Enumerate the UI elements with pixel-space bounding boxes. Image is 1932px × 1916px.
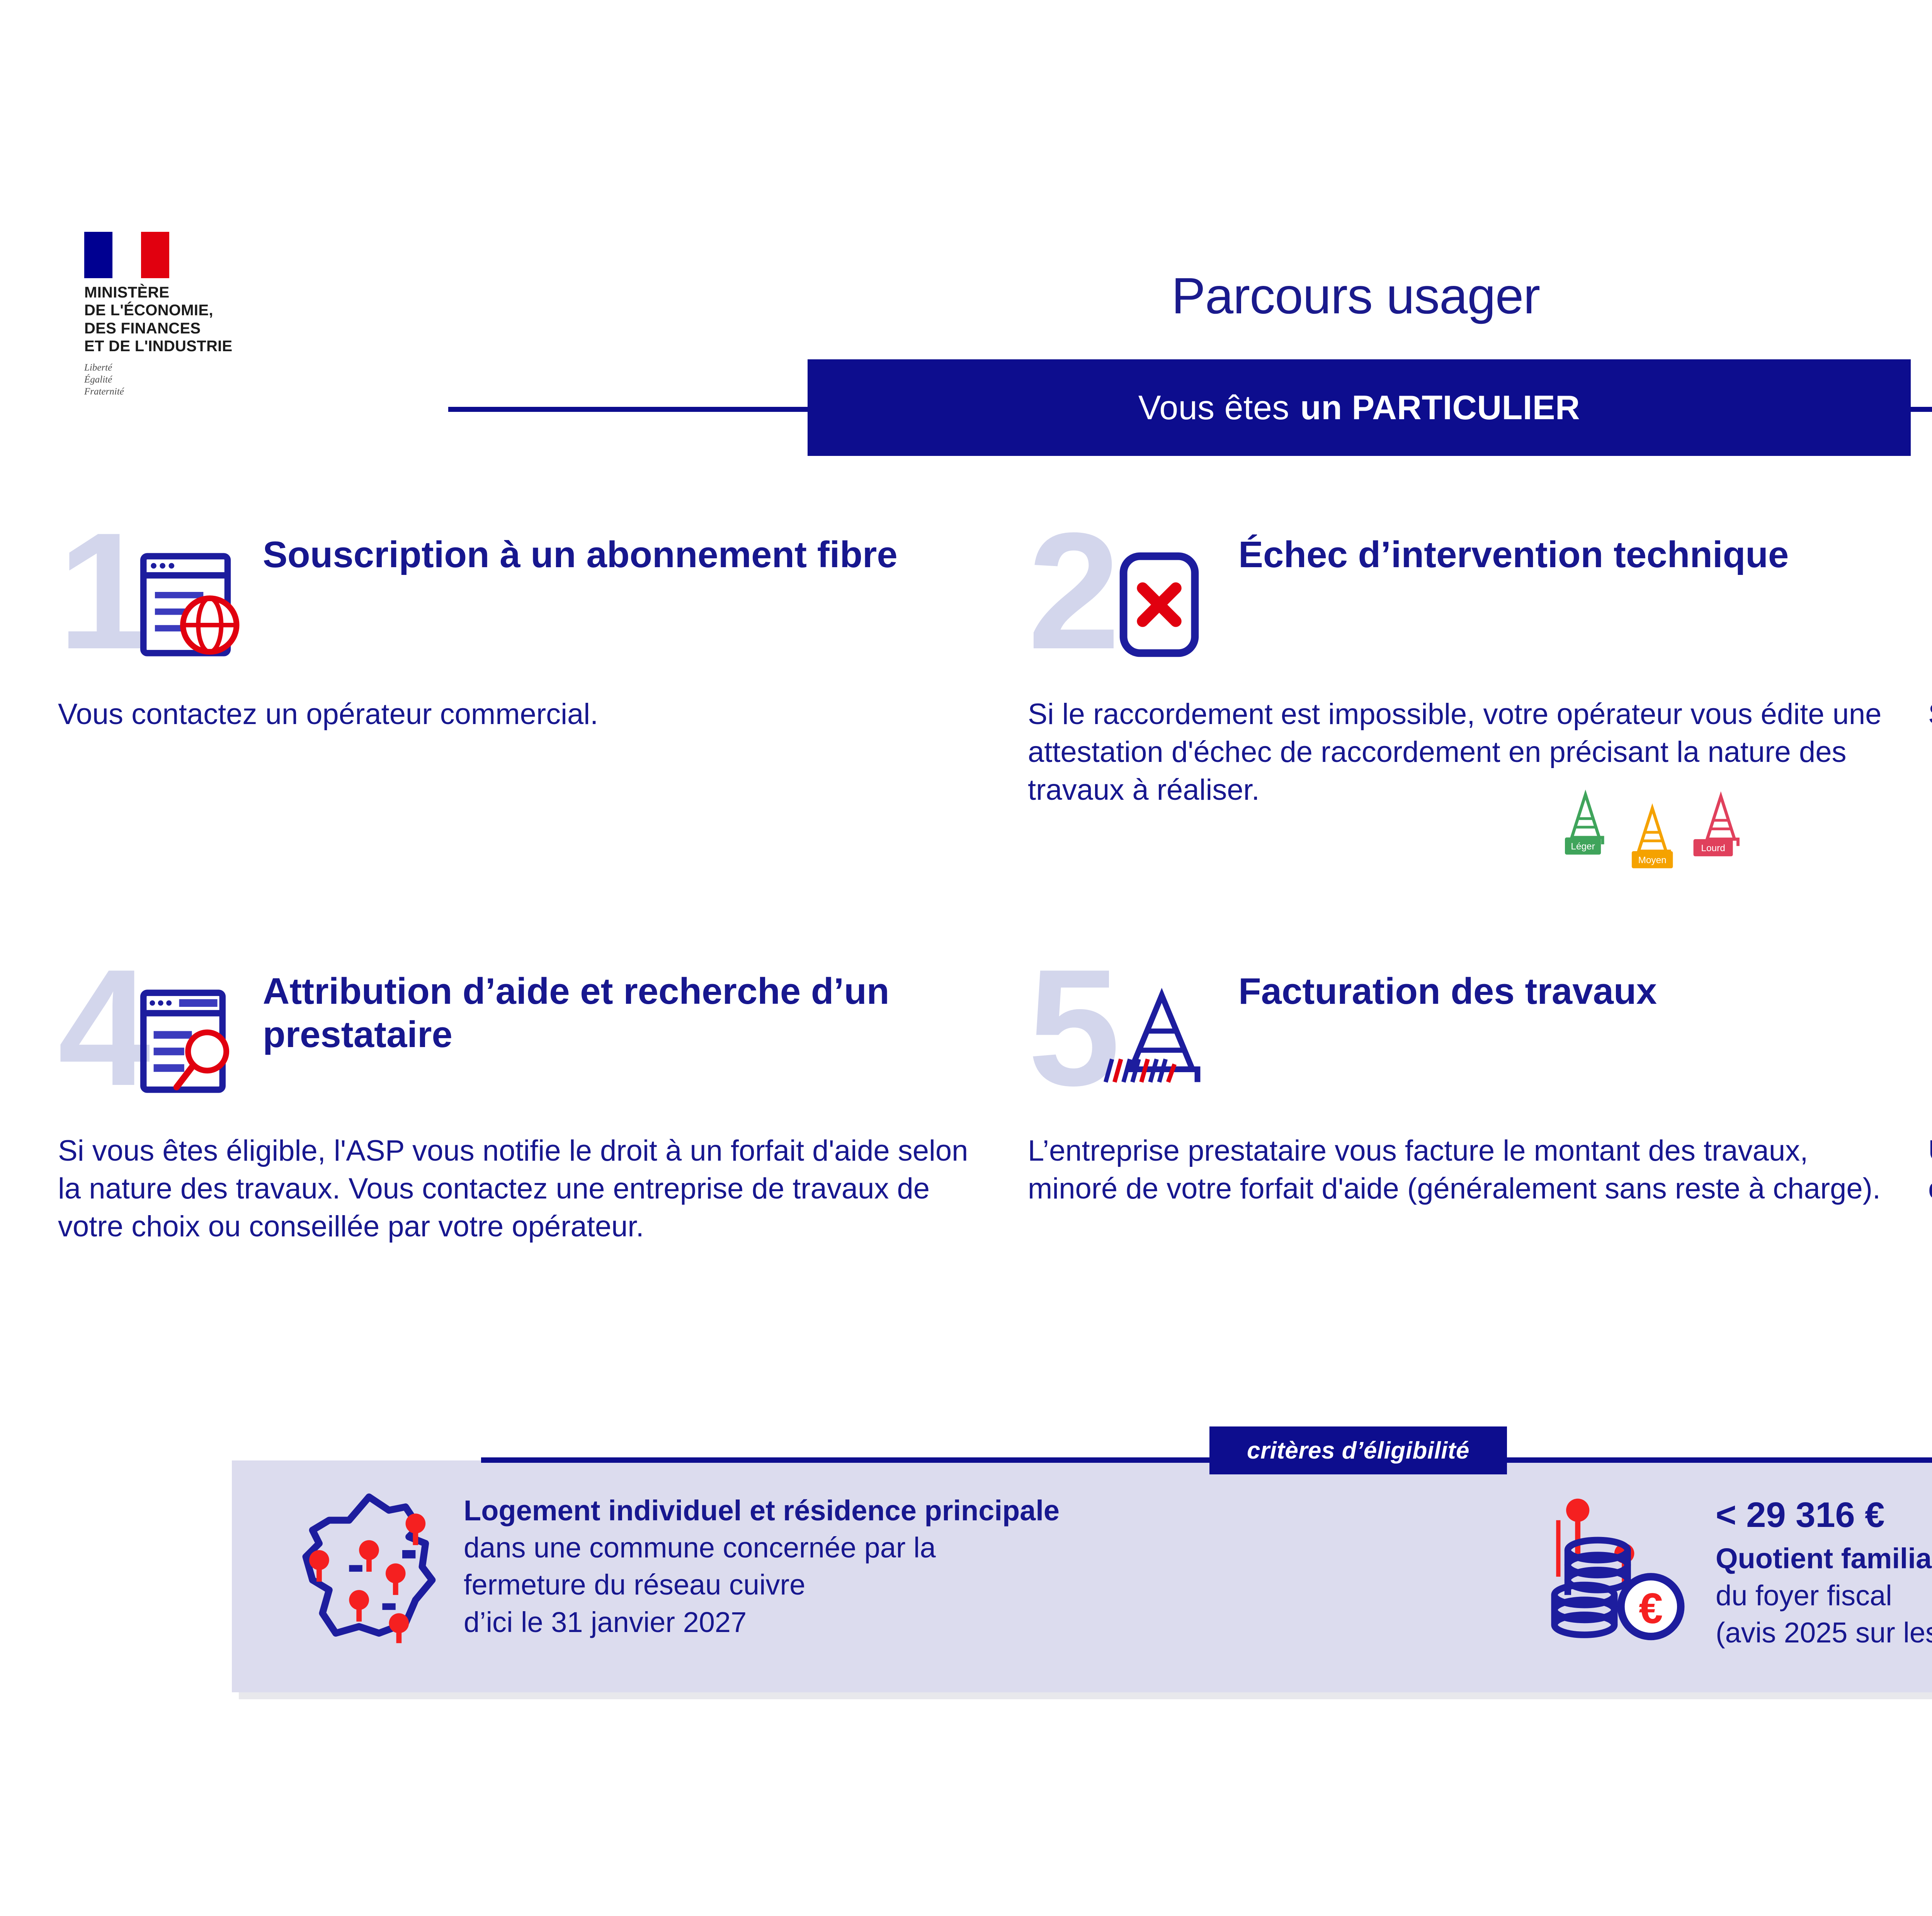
income-line-4: (avis 2025 sur les revenus 2024) <box>1716 1614 1932 1651</box>
divider-right <box>1909 407 1932 412</box>
coin-stack-euro-icon: € <box>1538 1484 1704 1650</box>
step-6-number: 6 <box>1928 945 1932 1111</box>
step-3-body: Sur le site de l'ASP, vous déposez : vot… <box>1928 695 1932 841</box>
svg-text:Moyen: Moyen <box>1638 855 1667 865</box>
step-2: 2 Échec d’intervention technique Si le r… <box>1028 529 1889 680</box>
step-6-head: 6 Raccordement à la fibre <box>1928 966 1932 1117</box>
eligibility-top-rule <box>481 1457 1932 1463</box>
banner-prefix: Vous êtes <box>1138 388 1289 427</box>
step-5-head: 5 <box>1028 966 1889 1117</box>
step-6: 6 Raccordement à la fibre Une fois les t… <box>1928 966 1932 1117</box>
browser-window-globe-icon <box>126 541 253 668</box>
step-4-title: Attribution d’aide et recherche d’un pre… <box>263 970 1001 1057</box>
steps-row-2: 4 Attri <box>0 966 1932 1403</box>
audience-banner: Vous êtes un PARTICULIER <box>808 359 1911 456</box>
step-6-body: Une fois les travaux réalisés, vous reco… <box>1928 1132 1932 1208</box>
step-2-head: 2 Échec d’intervention technique <box>1028 529 1889 680</box>
list-item: votre pièce d’identité (ou via France Co… <box>1928 771 1932 806</box>
step-5-body: L’entreprise prestataire vous facture le… <box>1028 1132 1882 1208</box>
step-3: 3 Connexion au site de l’ASP Sur le site… <box>1928 529 1932 680</box>
criterion-line-3: fermeture du réseau cuivre <box>464 1566 1060 1603</box>
income-line-2: Quotient familial <box>1716 1540 1932 1577</box>
criterion-line-4: d’ici le 31 janvier 2027 <box>464 1604 1060 1641</box>
steps-grid: 1 Sousc <box>0 529 1932 1403</box>
list-item: votre attestation d’échec de raccordemen… <box>1928 736 1932 771</box>
svg-text:Lourd: Lourd <box>1701 843 1725 853</box>
step-2-title: Échec d’intervention technique <box>1238 533 1889 576</box>
income-threshold: < 29 316 € <box>1716 1492 1932 1539</box>
step-4-body: Si vous êtes éligible, l'ASP vous notifi… <box>58 1132 993 1246</box>
step-5: 5 <box>1028 966 1889 1117</box>
list-item: votre numéro fiscal pour tester votre él… <box>1928 806 1932 841</box>
eligibility-housing-text: Logement individuel et résidence princip… <box>464 1484 1060 1641</box>
infographic-page: MINISTÈRE DE L'ÉCONOMIE, DES FINANCES ET… <box>0 0 1932 1916</box>
page-title: Parcours usager <box>0 267 1932 325</box>
step-1-head: 1 Sousc <box>58 529 1001 680</box>
eligibility-criterion-income: € < 29 316 € Quotient familial du foyer … <box>1538 1484 1932 1651</box>
step-4: 4 Attri <box>58 966 1001 1117</box>
banner-strong: un PARTICULIER <box>1300 388 1580 427</box>
divider-left <box>448 407 808 412</box>
step-3-lead: Sur le site de l'ASP, vous déposez : <box>1928 695 1932 733</box>
steps-row-1: 1 Sousc <box>0 529 1932 966</box>
step-3-bullets: votre attestation d’échec de raccordemen… <box>1928 736 1932 841</box>
svg-text:Léger: Léger <box>1571 842 1595 852</box>
step-3-head: 3 Connexion au site de l’ASP <box>1928 529 1932 680</box>
eligibility-panel: critères d’éligibilité <box>232 1445 1932 1692</box>
work-level-cones: Léger Moyen <box>1565 784 1762 869</box>
income-line-3: du foyer fiscal <box>1716 1577 1932 1614</box>
eligibility-tag: critères d’éligibilité <box>1209 1426 1507 1474</box>
red-cross-in-rounded-box-icon <box>1095 541 1223 668</box>
document-magnifier-icon <box>126 978 253 1105</box>
step-4-head: 4 Attri <box>58 966 1001 1117</box>
step-5-title: Facturation des travaux <box>1238 970 1889 1013</box>
criterion-line-1: Logement individuel et résidence princip… <box>464 1492 1060 1529</box>
france-map-pins-icon <box>286 1484 452 1650</box>
step-1-body: Vous contactez un opérateur commercial. <box>58 695 993 733</box>
svg-text:€: € <box>1639 1584 1663 1632</box>
step-1: 1 Sousc <box>58 529 1001 680</box>
eligibility-income-text: < 29 316 € Quotient familial du foyer fi… <box>1716 1484 1932 1651</box>
criterion-line-2: dans une commune concernée par la <box>464 1529 1060 1566</box>
eligibility-criterion-housing: Logement individuel et résidence princip… <box>286 1484 1406 1650</box>
step-1-title: Souscription à un abonnement fibre <box>263 533 1001 576</box>
traffic-cone-invoice-icon <box>1095 978 1223 1105</box>
audience-banner-row: Vous êtes un PARTICULIER <box>0 350 1932 446</box>
step-3-number: 3 <box>1928 508 1932 674</box>
